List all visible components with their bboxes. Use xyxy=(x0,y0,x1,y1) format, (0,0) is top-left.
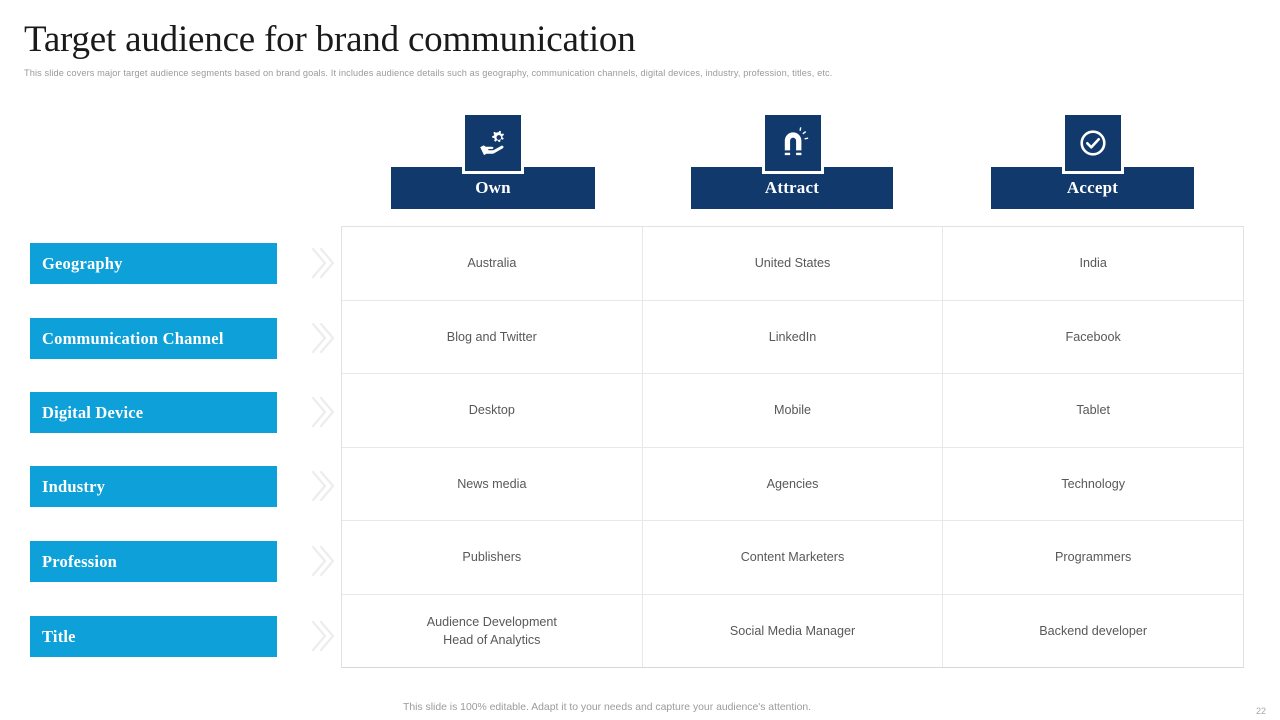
column-header-attract[interactable]: Attract xyxy=(691,167,893,209)
chevron-right-icon-industry xyxy=(309,469,339,503)
chevron-right-icon-title xyxy=(309,619,339,653)
category-button-profession[interactable]: Profession xyxy=(30,541,277,582)
column-header-accept-label: Accept xyxy=(1067,178,1118,198)
slide-root: Target audience for brand communication … xyxy=(0,0,1280,720)
table-cell: Australia xyxy=(342,227,643,300)
category-label-profession: Profession xyxy=(30,552,117,572)
table-row: News media Agencies Technology xyxy=(342,448,1243,522)
table-row: Australia United States India xyxy=(342,227,1243,301)
chevron-right-icon-digital-device xyxy=(309,395,339,429)
table-cell: News media xyxy=(342,448,643,521)
column-icon-attract xyxy=(765,115,821,171)
column-header-attract-label: Attract xyxy=(765,178,819,198)
table-cell: Agencies xyxy=(643,448,944,521)
table-cell: Backend developer xyxy=(943,595,1243,668)
table-cell: Content Marketers xyxy=(643,521,944,594)
check-circle-icon xyxy=(1076,126,1110,160)
column-header-own[interactable]: Own xyxy=(391,167,595,209)
category-button-digital-device[interactable]: Digital Device xyxy=(30,392,277,433)
magnet-icon xyxy=(777,127,809,159)
chevron-right-icon-profession xyxy=(309,544,339,578)
table-cell: Facebook xyxy=(943,301,1243,374)
audience-matrix-table: Australia United States India Blog and T… xyxy=(341,226,1244,668)
table-row: Blog and Twitter LinkedIn Facebook xyxy=(342,301,1243,375)
category-button-industry[interactable]: Industry xyxy=(30,466,277,507)
table-cell: Publishers xyxy=(342,521,643,594)
category-button-communication-channel[interactable]: Communication Channel xyxy=(30,318,277,359)
page-subtitle: This slide covers major target audience … xyxy=(24,68,832,78)
chevron-right-icon-geography xyxy=(309,246,339,280)
table-cell: LinkedIn xyxy=(643,301,944,374)
category-label-geography: Geography xyxy=(30,254,123,274)
table-cell: Mobile xyxy=(643,374,944,447)
chevron-right-icon-communication-channel xyxy=(309,321,339,355)
category-label-industry: Industry xyxy=(30,477,105,497)
table-cell: Desktop xyxy=(342,374,643,447)
column-icon-accept xyxy=(1065,115,1121,171)
table-cell: Social Media Manager xyxy=(643,595,944,668)
table-cell: Technology xyxy=(943,448,1243,521)
category-button-geography[interactable]: Geography xyxy=(30,243,277,284)
table-row: Audience Development Head of Analytics S… xyxy=(342,595,1243,668)
hand-holding-gear-icon xyxy=(476,126,510,160)
column-header-accept[interactable]: Accept xyxy=(991,167,1194,209)
table-cell: India xyxy=(943,227,1243,300)
category-label-digital-device: Digital Device xyxy=(30,403,143,423)
footer-note: This slide is 100% editable. Adapt it to… xyxy=(403,702,811,713)
category-button-title[interactable]: Title xyxy=(30,616,277,657)
category-label-title: Title xyxy=(30,627,76,647)
column-header-own-label: Own xyxy=(475,178,511,198)
table-cell: Programmers xyxy=(943,521,1243,594)
table-cell: Audience Development Head of Analytics xyxy=(342,595,643,668)
table-cell: Blog and Twitter xyxy=(342,301,643,374)
category-label-communication-channel: Communication Channel xyxy=(30,329,224,349)
table-row: Publishers Content Marketers Programmers xyxy=(342,521,1243,595)
page-number: 22 xyxy=(1256,706,1266,716)
table-row: Desktop Mobile Tablet xyxy=(342,374,1243,448)
page-title: Target audience for brand communication xyxy=(24,18,636,61)
table-cell: Tablet xyxy=(943,374,1243,447)
table-cell: United States xyxy=(643,227,944,300)
column-icon-own xyxy=(465,115,521,171)
